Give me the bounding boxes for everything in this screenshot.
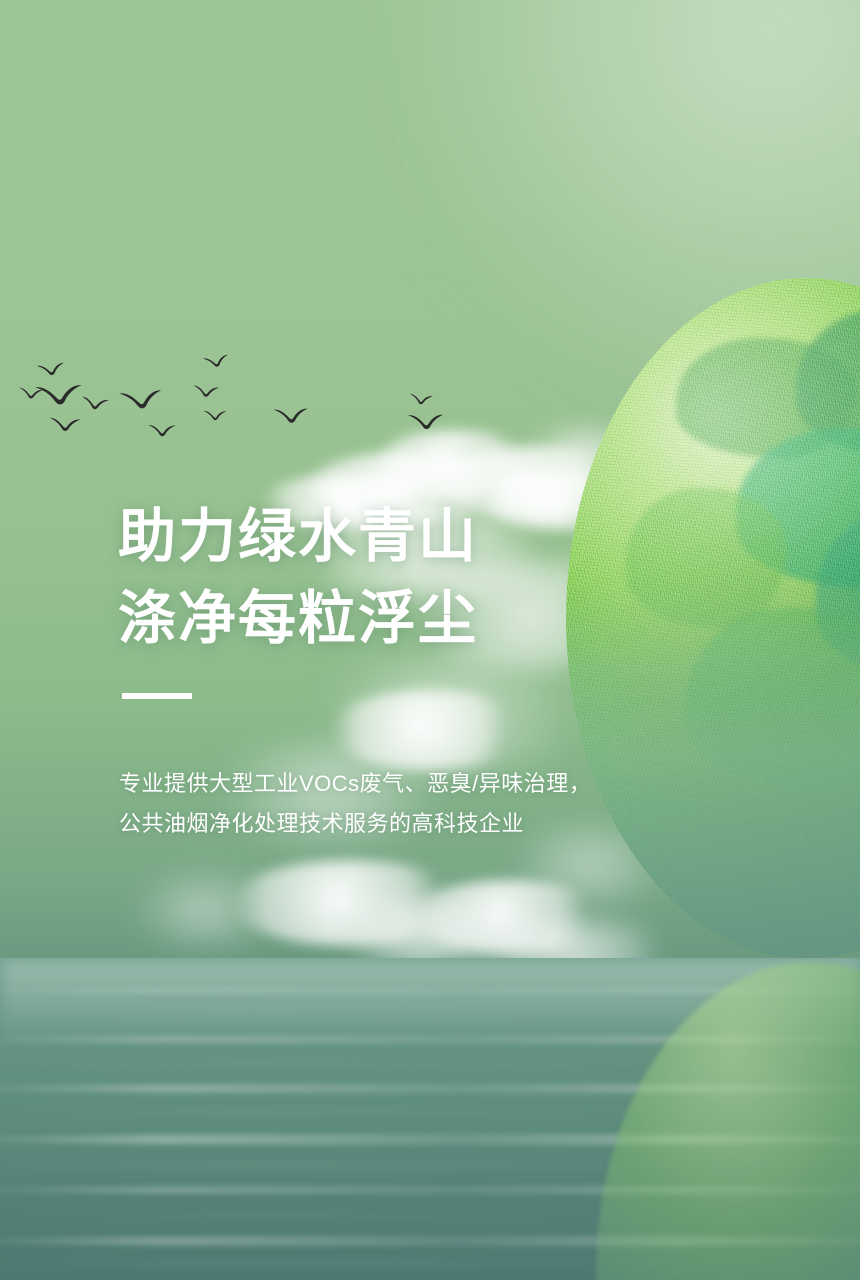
headline-divider — [122, 693, 192, 699]
subtitle-line-2: 公共油烟净化处理技术服务的高科技企业 — [119, 804, 591, 844]
headline: 助力绿水青山 涤净每粒浮尘 — [118, 496, 478, 660]
poster-content: 助力绿水青山 涤净每粒浮尘 专业提供大型工业VOCs废气、恶臭/异味治理， 公共… — [0, 0, 860, 1280]
promo-poster: 助力绿水青山 涤净每粒浮尘 专业提供大型工业VOCs废气、恶臭/异味治理， 公共… — [0, 0, 860, 1280]
subtitle: 专业提供大型工业VOCs废气、恶臭/异味治理， 公共油烟净化处理技术服务的高科技… — [119, 764, 591, 844]
headline-line-2: 涤净每粒浮尘 — [118, 578, 478, 660]
headline-line-1: 助力绿水青山 — [118, 496, 478, 578]
subtitle-line-1: 专业提供大型工业VOCs废气、恶臭/异味治理， — [119, 764, 591, 804]
